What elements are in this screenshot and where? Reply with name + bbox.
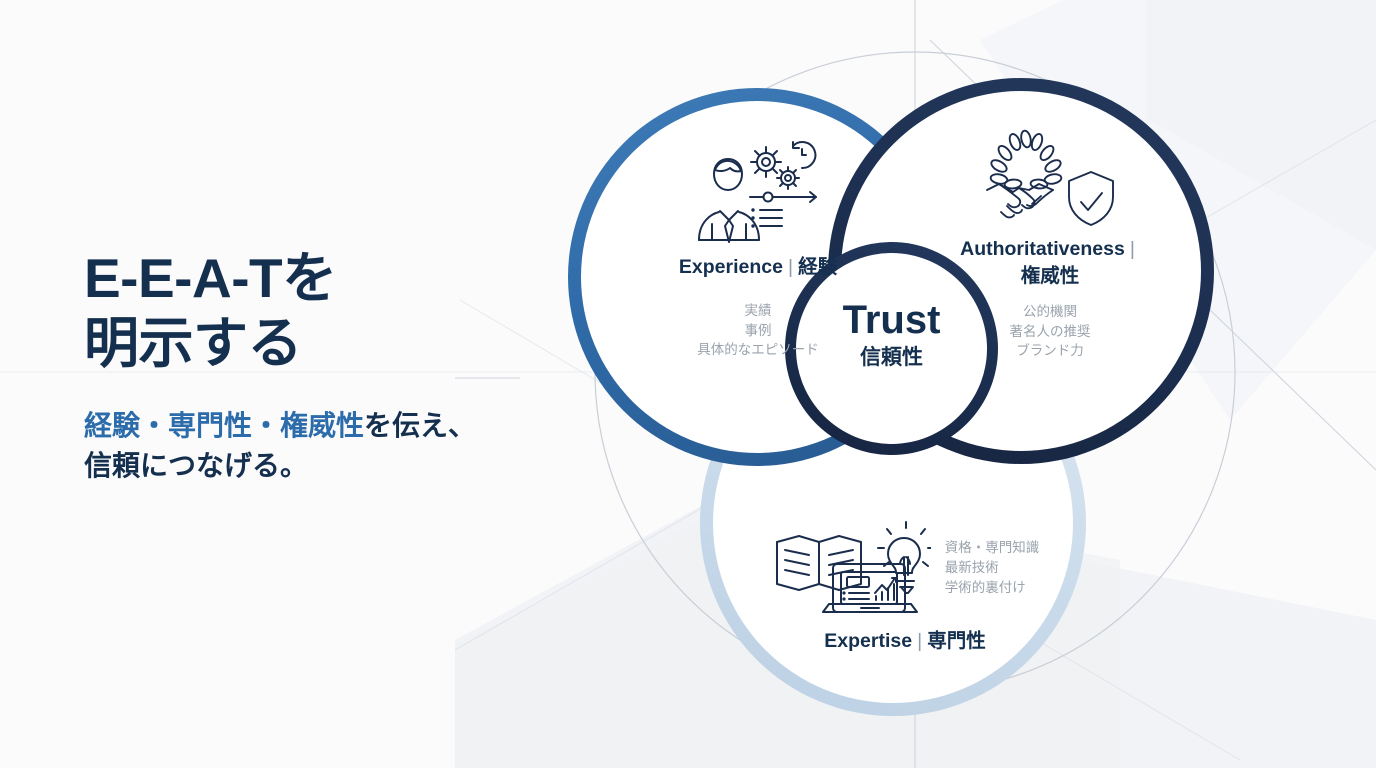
subtitle-tail: を伝え、 [364,410,476,441]
book-laptop-bulb-icon [771,520,931,616]
page-title: E-E-A-Tを 明示する [84,246,554,376]
expertise-label-en: Expertise [824,630,912,652]
trust-content: Trust 信頼性 [785,300,998,368]
trust-label-jp: 信頼性 [785,347,998,368]
label-divider: | [1125,238,1140,260]
expertise-label: Expertise|専門性 [745,624,1065,653]
laurel-handshake-shield-icon [900,128,1200,228]
list-item: 学術的裏付け [945,578,1040,598]
person-gears-timeline-icon [608,140,908,244]
experience-label-en: Experience [679,256,783,278]
subtitle-accent: 経験・専門性・権威性 [84,410,364,441]
venn-diagram: Experience|経験 実績 事例 具体的なエピソード [520,0,1280,768]
label-divider: | [912,630,927,652]
copy-block: E-E-A-Tを 明示する 経験・専門性・権威性を伝え、 信頼につなげる。 [84,246,554,485]
expertise-row: 資格・専門知識 最新技術 学術的裏付け [745,520,1065,616]
experience-label-jp: 経験 [798,256,837,278]
label-divider: | [783,256,798,278]
authoritativeness-label-jp: 権威性 [1021,265,1080,287]
experience-label: Experience|経験 [608,250,908,279]
expertise-bullets: 資格・専門知識 最新技術 学術的裏付け [945,538,1040,597]
list-item: 資格・専門知識 [945,538,1040,558]
subtitle: 経験・専門性・権威性を伝え、 信頼につなげる。 [84,406,554,486]
expertise-content: 資格・専門知識 最新技術 学術的裏付け Expertise|専門性 [745,520,1065,653]
subtitle-line2: 信頼につなげる。 [84,450,308,481]
authoritativeness-label: Authoritativeness| 権威性 [900,236,1200,290]
expertise-label-jp: 専門性 [927,630,986,652]
slide-canvas: E-E-A-Tを 明示する 経験・専門性・権威性を伝え、 信頼につなげる。 [0,0,1376,768]
list-item: 最新技術 [945,558,1040,578]
authoritativeness-label-en: Authoritativeness [960,238,1125,260]
trust-label-en: Trust [785,300,998,340]
